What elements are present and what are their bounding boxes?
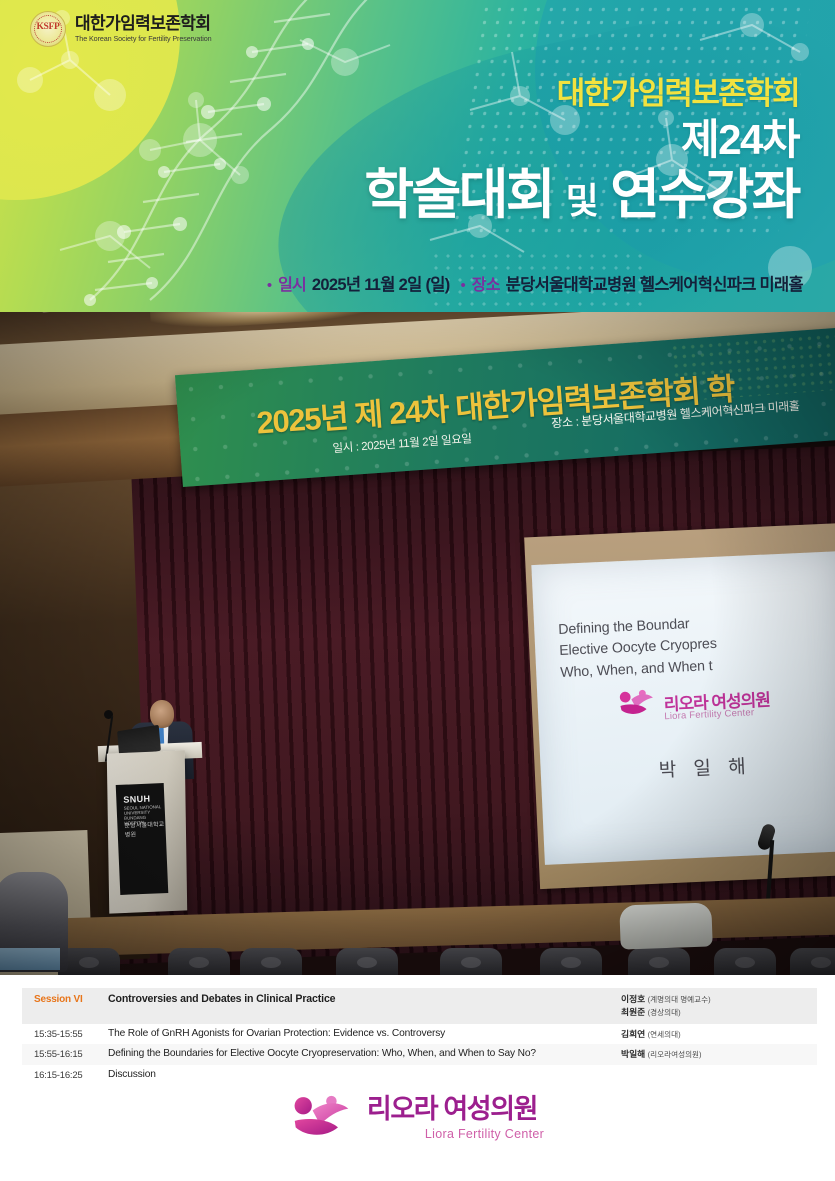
chair-name: 이정호: [621, 994, 645, 1004]
table-row: 15:35-15:55 The Role of GnRH Agonists fo…: [22, 1024, 817, 1045]
bullet-dot-icon: •: [461, 278, 466, 293]
event-title-society: 대한가임력보존학회: [364, 78, 799, 109]
talk-speaker: 김희연 (연세의대): [621, 1028, 817, 1041]
podium-brand-korean: 분당서울대학교병원: [124, 819, 166, 839]
talk-speaker: 박일해 (리오라여성의원): [621, 1048, 817, 1061]
speaker-affiliation: (리오라여성의원): [648, 1050, 702, 1059]
ksfp-emblem-text: KSFP: [36, 22, 59, 32]
session-chairs: 이정호 (계명의대 명예교수) 최원준 (경상의대): [621, 993, 817, 1019]
audience-chair: [628, 948, 690, 975]
chair-name: 최원준: [621, 1007, 645, 1017]
event-date-value: 2025년 11월 2일 (일): [312, 271, 450, 295]
audience-chair: [240, 948, 302, 975]
speaker-entry: 김희연 (연세의대): [621, 1028, 817, 1041]
event-title-edition: 제24차: [364, 119, 799, 161]
audience-chair: [714, 948, 776, 975]
event-title-block: 대한가임력보존학회 제24차 학술대회 및 연수강좌: [364, 78, 799, 222]
projection-screen: Defining the Boundar Elective Oocyte Cry…: [531, 551, 835, 865]
event-date-label: 일시: [278, 271, 306, 295]
ksfp-emblem-icon: KSFP: [30, 11, 66, 47]
speaker-name: 박일해: [621, 1049, 645, 1059]
talk-time: 15:55-16:15: [22, 1048, 108, 1060]
podium-branding-plate: SNUH SEOUL NATIONAL UNIVERSITY BUNDANG H…: [116, 783, 169, 895]
chair-draped-jacket: [619, 902, 712, 949]
event-header-banner: KSFP 대한가임력보존학회 The Korean Society for Fe…: [0, 0, 835, 312]
clinic-footer-logo: 리오라 여성의원 Liora Fertility Center: [0, 1093, 835, 1143]
talk-title: The Role of GnRH Agonists for Ovarian Pr…: [108, 1028, 621, 1039]
talk-title: Defining the Boundaries for Elective Ooc…: [108, 1048, 621, 1059]
slide-speaker-name: 박 일 해: [658, 751, 752, 782]
event-title-conjunction: 및: [566, 180, 598, 221]
chair-affiliation: (경상의대): [648, 1008, 681, 1017]
table-row: 15:55-16:15 Defining the Boundaries for …: [22, 1044, 817, 1065]
audience-chair: [540, 948, 602, 975]
audience-chair: [790, 948, 835, 975]
event-date-segment: • 일시 2025년 11월 2일 (일): [267, 271, 450, 295]
talk-title: Discussion: [108, 1069, 621, 1080]
lecture-hall-photo: 2025년 제 24차 대한가임력보존학회 학 일시 : 2025년 11월 2…: [0, 312, 835, 975]
table-row: Session VI Controversies and Debates in …: [22, 988, 817, 1024]
clinic-name-english: Liora Fertility Center: [425, 1127, 544, 1141]
event-info-row: • 일시 2025년 11월 2일 (일) • 장소 분당서울대학교병원 헬스케…: [267, 271, 803, 295]
chair-entry: 최원준 (경상의대): [621, 1006, 817, 1019]
society-name-block: 대한가임력보존학회 The Korean Society for Fertili…: [75, 15, 212, 42]
speaker-head: [150, 700, 175, 729]
audience-chair: [336, 948, 398, 975]
chair-entry: 이정호 (계명의대 명예교수): [621, 993, 817, 1006]
event-venue-segment: • 장소 분당서울대학교병원 헬스케어혁신파크 미래홀: [461, 271, 803, 295]
session-title: Controversies and Debates in Clinical Pr…: [108, 993, 621, 1005]
clinic-name-block: 리오라 여성의원 Liora Fertility Center: [367, 1096, 544, 1141]
speaker-entry: 박일해 (리오라여성의원): [621, 1048, 817, 1061]
liora-figure-icon: [291, 1093, 353, 1143]
event-title-course: 연수강좌: [610, 165, 799, 225]
society-name-korean: 대한가임력보존학회: [75, 15, 212, 32]
society-logo: KSFP 대한가임력보존학회 The Korean Society for Fe…: [30, 11, 212, 47]
poster-page: KSFP 대한가임력보존학회 The Korean Society for Fe…: [0, 0, 835, 1181]
speaker-affiliation: (연세의대): [648, 1030, 681, 1039]
event-venue-value: 분당서울대학교병원 헬스케어혁신파크 미래홀: [506, 271, 803, 295]
clinic-name-korean: 리오라 여성의원: [367, 1096, 537, 1123]
program-schedule-table: Session VI Controversies and Debates in …: [0, 988, 835, 1085]
speaker-name: 김희연: [621, 1029, 645, 1039]
talk-time: 16:15-16:25: [22, 1069, 108, 1081]
session-label: Session VI: [22, 993, 108, 1005]
audience-chair: [168, 948, 230, 975]
bullet-dot-icon: •: [267, 278, 272, 293]
audience-chair: [440, 948, 502, 975]
event-title-main: 학술대회 및 연수강좌: [364, 168, 799, 222]
event-venue-label: 장소: [472, 271, 500, 295]
chair-affiliation: (계명의대 명예교수): [648, 995, 711, 1004]
talk-time: 15:35-15:55: [22, 1028, 108, 1040]
table-row: 16:15-16:25 Discussion: [22, 1065, 817, 1085]
slide-title: Defining the Boundar Elective Oocyte Cry…: [558, 603, 835, 683]
podium-brand-text: SNUH: [123, 794, 151, 805]
society-name-english: The Korean Society for Fertility Preserv…: [75, 35, 212, 42]
event-title-congress: 학술대회: [364, 165, 553, 225]
liora-figure-icon: [617, 688, 656, 720]
audience-monitor: [0, 948, 60, 970]
